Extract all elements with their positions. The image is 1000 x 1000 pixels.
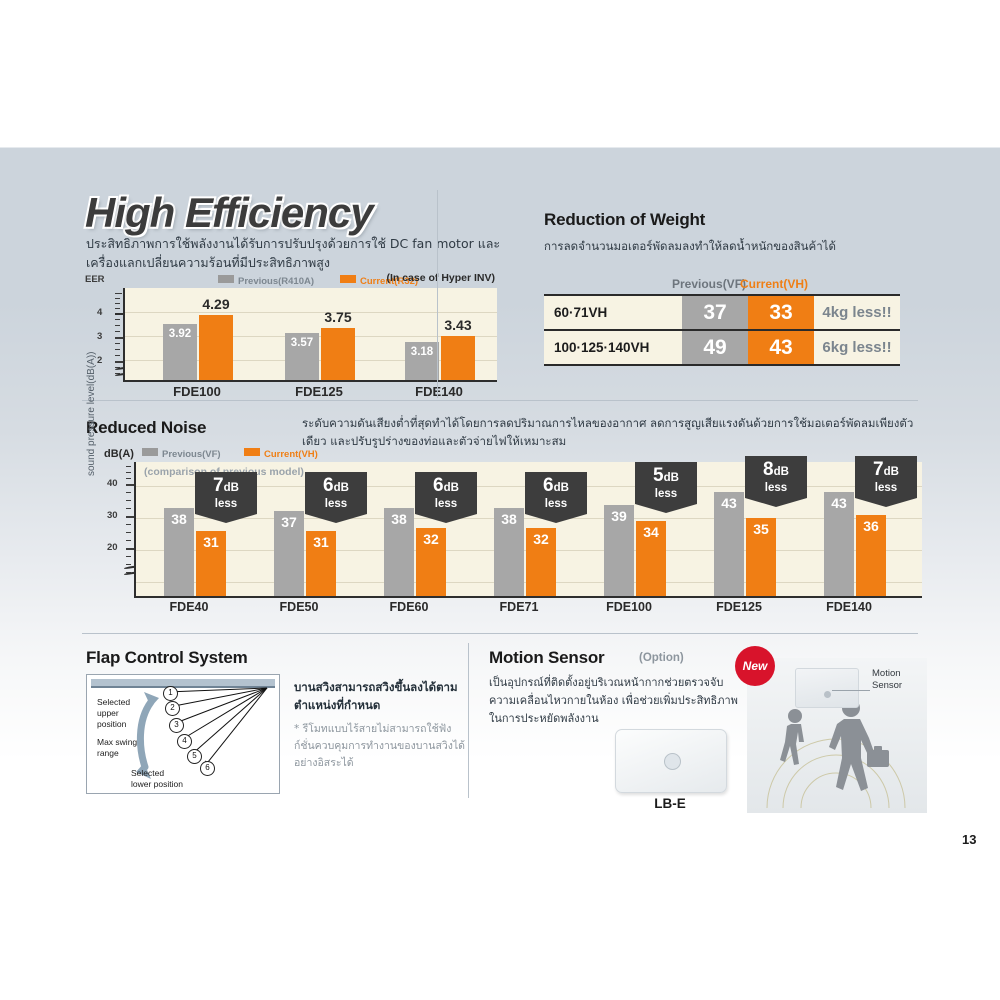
noise-bar-curr-1: 31 [306, 531, 336, 596]
page-number: 13 [962, 832, 976, 847]
motion-sensor-illustration: New MotionSensor [747, 658, 927, 813]
flap-bold-text: บานสวิงสามารถสวิงขึ้นลงได้ตามตำแหน่งที่ก… [294, 678, 469, 714]
noise-bar-curr-4: 34 [636, 521, 666, 596]
eer-bar-curr-2: 3.43 [441, 336, 475, 380]
noise-flag-1: 6dB less [305, 472, 367, 514]
noise-ytick-30: 30 [107, 510, 118, 521]
lbe-model-label: LB-E [615, 796, 725, 811]
weight-row-name-1: 100·125·140VH [544, 330, 682, 365]
weight-row-saving-0: 4kg less!! [814, 295, 900, 330]
noise-bar-prev-1: 37 [274, 511, 304, 596]
noise-bar-value-prev-5: 43 [714, 495, 744, 511]
eer-axis-title: EER [85, 274, 105, 285]
page-title: High Efficiency [85, 189, 373, 237]
flap-position-6: 6 [200, 761, 215, 776]
noise-bar-value-curr-1: 31 [306, 534, 336, 550]
flap-control-text: บานสวิงสามารถสวิงขึ้นลงได้ตามตำแหน่งที่ก… [294, 678, 469, 772]
ceiling-unit-sensor-dot [824, 691, 831, 698]
noise-axis-title: sound pressure level(dB(A)) [86, 352, 97, 477]
noise-bar-curr-3: 32 [526, 528, 556, 596]
eer-bar-prev-0: 3.92 [163, 324, 197, 380]
noise-bar-value-curr-4: 34 [636, 524, 666, 540]
noise-bar-prev-6: 43 [824, 492, 854, 596]
noise-bar-prev-5: 43 [714, 492, 744, 596]
flap-position-5: 5 [187, 749, 202, 764]
weight-table-header: Previous(VF) Current(VH) [544, 277, 916, 294]
table-row: 60·71VH 37 33 4kg less!! [544, 295, 900, 330]
high-efficiency-description: ประสิทธิภาพการใช้พลังงานได้รับการปรับปรุ… [86, 234, 506, 272]
ceiling-unit-image [795, 668, 859, 708]
eer-category-1: FDE125 [279, 384, 359, 399]
noise-bar-prev-2: 38 [384, 508, 414, 596]
noise-bar-value-prev-2: 38 [384, 511, 414, 527]
divider-horizontal-2 [82, 633, 918, 634]
noise-bar-curr-6: 36 [856, 515, 886, 596]
noise-ytick-40: 40 [107, 478, 118, 489]
new-badge: New [735, 646, 775, 686]
eer-ytick-3: 3 [97, 331, 102, 342]
noise-flag-0: 7dB less [195, 472, 257, 514]
weight-row-previous-0: 37 [682, 295, 748, 330]
flap-position-1: 1 [163, 686, 178, 701]
weight-header-previous: Previous(VF) [672, 277, 738, 291]
noise-bar-value-curr-5: 35 [746, 521, 776, 537]
weight-header-current: Current(VH) [740, 277, 806, 291]
eer-category-0: FDE100 [157, 384, 237, 399]
noise-bar-value-prev-0: 38 [164, 511, 194, 527]
noise-bar-prev-4: 39 [604, 505, 634, 596]
noise-flag-2: 6dB less [415, 472, 477, 514]
noise-category-5: FDE125 [694, 600, 784, 614]
eer-bar-value-curr-1: 3.75 [313, 309, 363, 325]
flap-position-3: 3 [169, 718, 184, 733]
eer-annotation: (In case of Hyper INV) [386, 272, 495, 284]
lbe-device-image [615, 729, 727, 793]
noise-category-6: FDE140 [804, 600, 894, 614]
eer-bar-prev-2: 3.18 [405, 342, 439, 380]
noise-bar-value-curr-2: 32 [416, 531, 446, 547]
eer-category-2: FDE140 [399, 384, 479, 399]
noise-bar-curr-5: 35 [746, 518, 776, 596]
legend-swatch-grey [218, 275, 234, 283]
reduction-of-weight-description: การลดจำนวนมอเตอร์พัดลมลงทำให้ลดน้ำหนักขอ… [544, 238, 916, 255]
motion-sensor-option: (Option) [639, 652, 684, 664]
noise-bar-curr-2: 32 [416, 528, 446, 596]
noise-chart: sound pressure level(dB(A)) dB(A) 40 30 … [86, 448, 921, 628]
noise-flag-5: 8dB less [745, 456, 807, 498]
noise-bar-value-curr-3: 32 [526, 531, 556, 547]
content-area: High Efficiency ประสิทธิภาพการใช้พลังงาน… [0, 148, 1000, 848]
flap-label-max: Max swingrange [97, 737, 159, 759]
eer-bar-value-prev-1: 3.57 [285, 337, 319, 349]
noise-flag-3: 6dB less [525, 472, 587, 514]
flap-position-2: 2 [165, 701, 180, 716]
noise-bar-prev-0: 38 [164, 508, 194, 596]
motion-sensor-callout: MotionSensor [872, 668, 902, 692]
noise-category-4: FDE100 [584, 600, 674, 614]
noise-ytick-20: 20 [107, 542, 118, 553]
flap-position-4: 4 [177, 734, 192, 749]
noise-category-1: FDE50 [254, 600, 344, 614]
flap-label-upper: Selectedupperposition [97, 697, 157, 730]
eer-bar-value-curr-0: 4.29 [191, 296, 241, 312]
eer-bar-value-curr-2: 3.43 [433, 317, 483, 333]
callout-leader-line [832, 690, 870, 691]
noise-category-0: FDE40 [144, 600, 234, 614]
reduction-of-weight-section: Reduction of Weight การลดจำนวนมอเตอร์พัด… [544, 210, 916, 366]
noise-bar-prev-3: 38 [494, 508, 524, 596]
eer-bar-curr-1: 3.75 [321, 328, 355, 380]
brochure-page: High Efficiency ประสิทธิภาพการใช้พลังงาน… [0, 0, 1000, 1000]
divider-horizontal-1 [82, 400, 918, 401]
noise-axis-unit: dB(A) [104, 448, 134, 460]
motion-sensor-description: เป็นอุปกรณ์ที่ติดตั้งอยู่บริเวณหน้ากากช่… [489, 674, 739, 728]
eer-ytick-4: 4 [97, 307, 102, 318]
reduced-noise-title: Reduced Noise [86, 418, 206, 438]
weight-row-previous-1: 49 [682, 330, 748, 365]
noise-bar-curr-0: 31 [196, 531, 226, 596]
lbe-sensor-dot [664, 753, 681, 770]
weight-row-saving-1: 6kg less!! [814, 330, 900, 365]
noise-bar-value-prev-4: 39 [604, 508, 634, 524]
eer-plot-area: 3.92 4.29 3.57 3.75 3.18 3.43 [123, 288, 497, 382]
noise-flag-6: 7dB less [855, 456, 917, 498]
legend-swatch-orange [340, 275, 356, 283]
noise-bar-value-prev-6: 43 [824, 495, 854, 511]
weight-row-name-0: 60·71VH [544, 295, 682, 330]
motion-sensor-title: Motion Sensor [489, 648, 604, 668]
noise-bar-value-curr-0: 31 [196, 534, 226, 550]
noise-category-3: FDE71 [474, 600, 564, 614]
noise-bar-value-curr-6: 36 [856, 518, 886, 534]
weight-row-current-1: 43 [748, 330, 814, 365]
eer-ytick-2: 2 [97, 355, 102, 366]
flap-control-title: Flap Control System [86, 648, 466, 668]
flap-note-text: * รีโมทแบบไร้สายไม่สามารถใช้ฟังก์ชั่นควบ… [294, 721, 469, 772]
weight-row-current-0: 33 [748, 295, 814, 330]
eer-bar-prev-1: 3.57 [285, 333, 319, 380]
flap-control-section: Flap Control System [86, 648, 466, 668]
eer-legend-previous: Previous(R410A) [218, 275, 314, 287]
reduction-of-weight-title: Reduction of Weight [544, 210, 916, 230]
noise-bar-value-prev-1: 37 [274, 514, 304, 530]
eer-bar-curr-0: 4.29 [199, 315, 233, 380]
noise-category-2: FDE60 [364, 600, 454, 614]
flap-diagram: Selectedupperposition Max swingrange Sel… [86, 674, 280, 794]
eer-chart: EER (In case of Hyper INV) 4 3 2 3.92 [85, 288, 495, 398]
reduced-noise-description: ระดับความดันเสียงต่ำที่สุดทำได้โดยการลดป… [302, 414, 927, 450]
eer-bar-value-prev-0: 3.92 [163, 328, 197, 340]
eer-bar-value-prev-2: 3.18 [405, 346, 439, 358]
noise-bar-value-prev-3: 38 [494, 511, 524, 527]
weight-table: 60·71VH 37 33 4kg less!! 100·125·140VH 4… [544, 294, 900, 366]
table-row: 100·125·140VH 49 43 6kg less!! [544, 330, 900, 365]
divider-vertical-top [437, 190, 438, 398]
noise-flag-4: 5dB less [635, 462, 697, 504]
